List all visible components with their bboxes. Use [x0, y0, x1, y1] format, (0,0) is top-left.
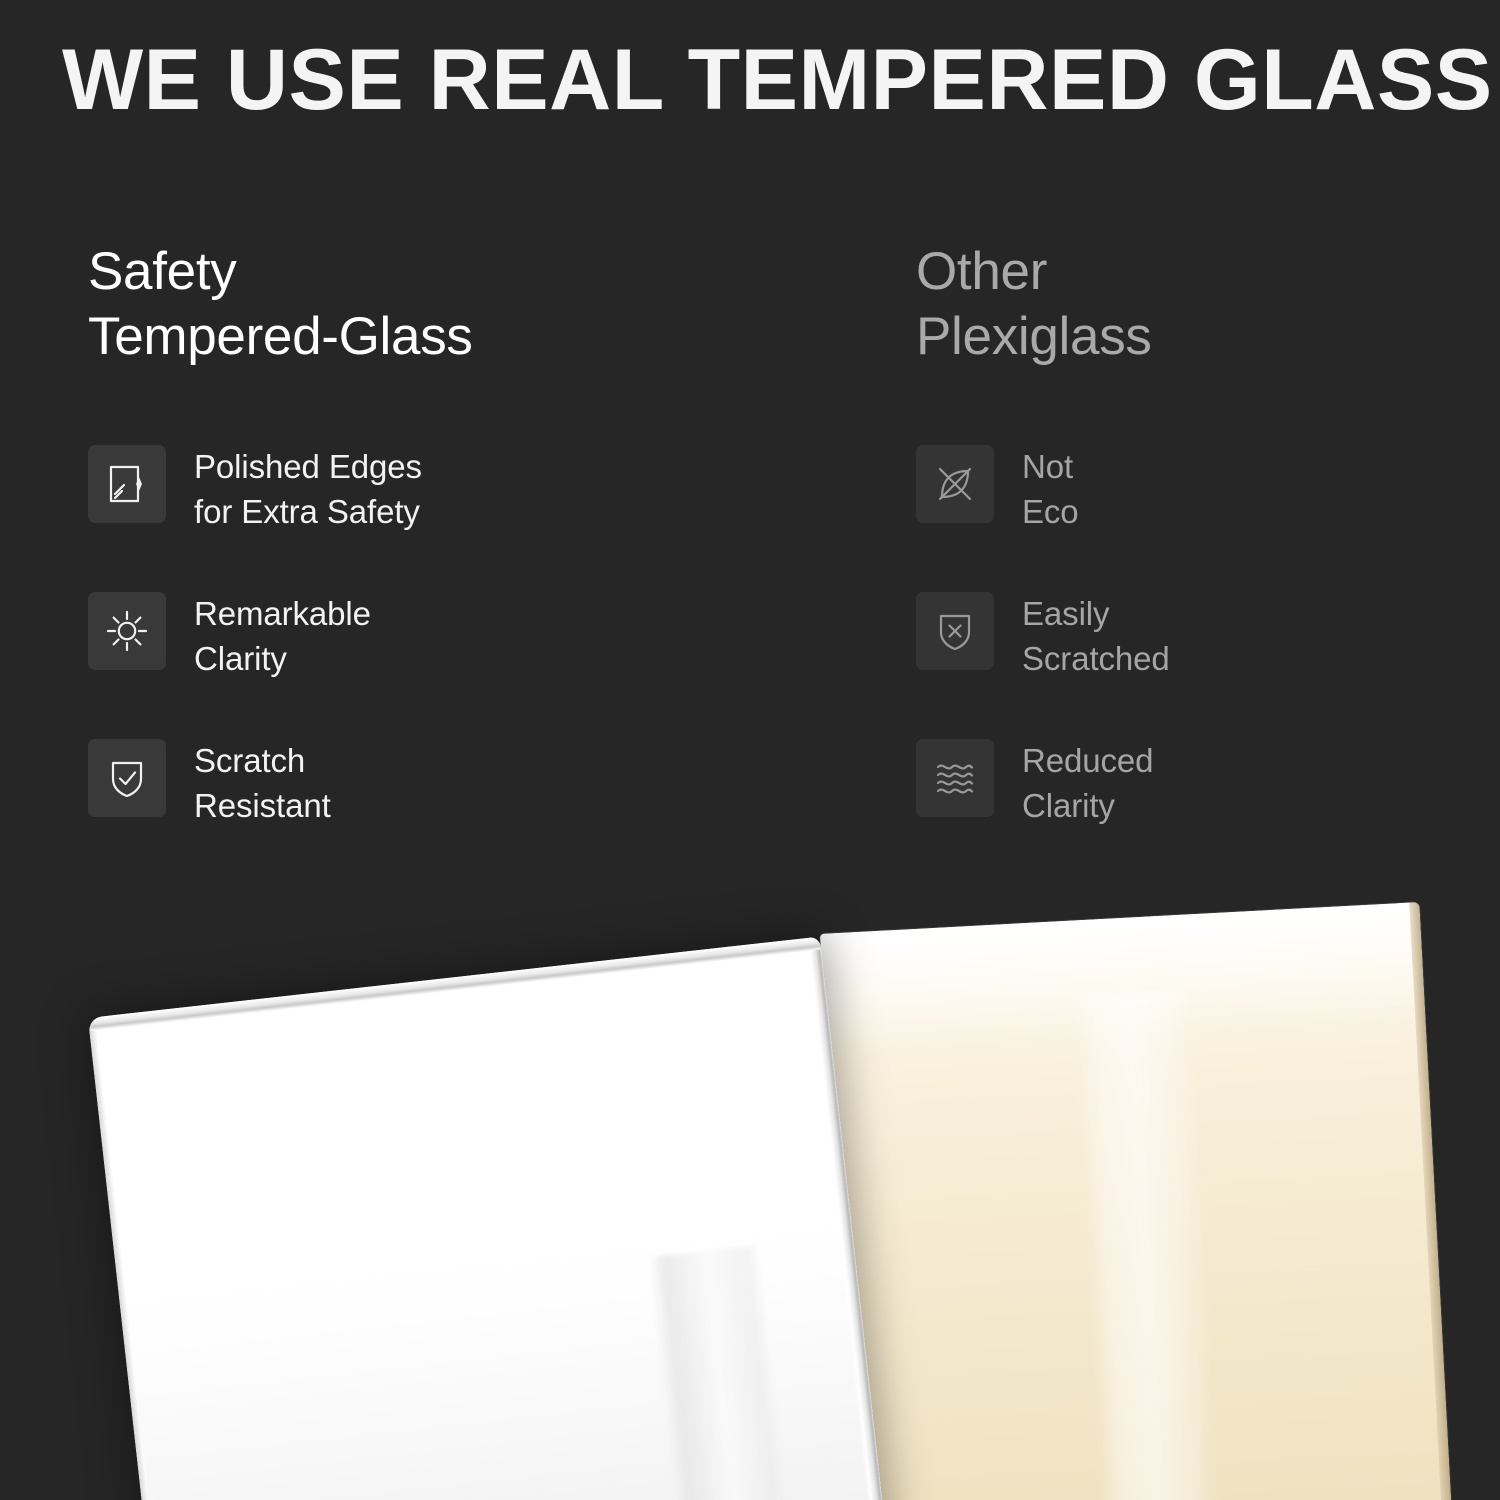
feature-item: Reduced Clarity [916, 737, 1500, 884]
infographic-canvas: WE USE REAL TEMPERED GLASS Safety Temper… [0, 0, 1500, 1500]
shield-x-icon [916, 592, 994, 670]
feature-item: Scratch Resistant [88, 737, 708, 884]
product-photo [0, 868, 1500, 1500]
leaf-crossed-out-icon [916, 445, 994, 523]
tempered-glass-panel [88, 937, 890, 1500]
feature-list-other: Not Eco Easily Scratched [916, 443, 1500, 884]
column-safety-tempered-glass: Safety Tempered-Glass Polished Edges for… [88, 240, 708, 884]
feature-label: Easily Scratched [1022, 590, 1170, 681]
feature-label: Remarkable Clarity [194, 590, 371, 681]
glass-top-polished-edge [88, 937, 821, 1031]
feature-list-safety: Polished Edges for Extra Safety Remarkab… [88, 443, 708, 884]
feature-label: Reduced Clarity [1022, 737, 1153, 828]
column-other-plexiglass: Other Plexiglass Not Eco [916, 240, 1500, 884]
feature-item: Remarkable Clarity [88, 590, 708, 737]
feature-label: Scratch Resistant [194, 737, 331, 828]
feature-label: Not Eco [1022, 443, 1079, 534]
shield-check-icon [88, 739, 166, 817]
feature-item: Not Eco [916, 443, 1500, 590]
sun-brightness-icon [88, 592, 166, 670]
feature-label: Polished Edges for Extra Safety [194, 443, 422, 534]
column-title-safety: Safety Tempered-Glass [88, 240, 708, 369]
page-title: WE USE REAL TEMPERED GLASS [62, 34, 1452, 127]
plexiglass-right-edge [1409, 902, 1456, 1500]
feature-item: Polished Edges for Extra Safety [88, 443, 708, 590]
feature-item: Easily Scratched [916, 590, 1500, 737]
plexiglass-panel [820, 902, 1456, 1500]
wavy-lines-icon [916, 739, 994, 817]
polished-glass-pane-icon [88, 445, 166, 523]
column-title-other: Other Plexiglass [916, 240, 1500, 369]
comparison-columns: Safety Tempered-Glass Polished Edges for… [0, 240, 1500, 880]
plexiglass-highlight [1074, 988, 1226, 1500]
